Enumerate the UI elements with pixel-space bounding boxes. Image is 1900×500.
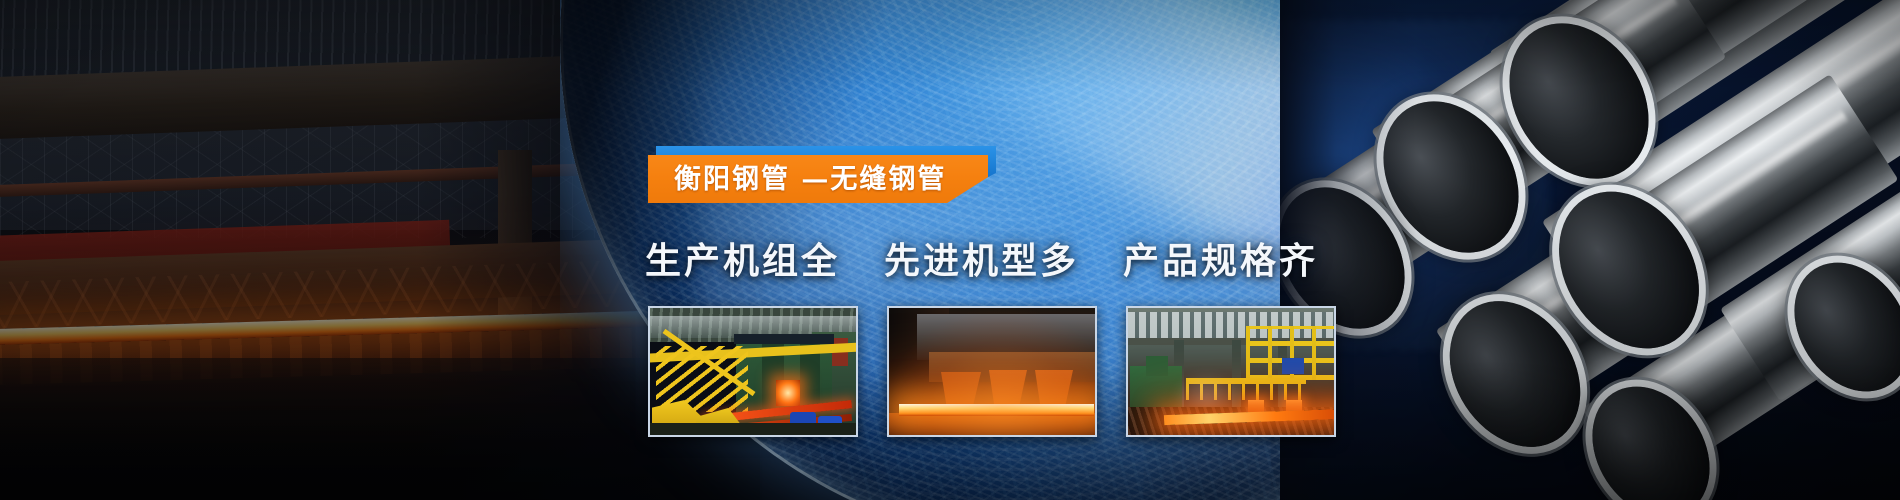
t3-green-machine-top — [1146, 356, 1168, 376]
thumbnail-rolling-mill-line[interactable] — [648, 306, 858, 437]
thumbnail-hot-billet-rolling[interactable] — [887, 306, 1097, 437]
slogan-2: 先进机型多 — [884, 244, 1079, 280]
t1-mill-crosshead — [734, 334, 834, 344]
thumbnail-workshop-hot-strand[interactable] — [1126, 306, 1336, 437]
thumb-3-artwork — [1128, 308, 1334, 435]
t1-hot-billet — [776, 380, 800, 406]
thumb-1-artwork — [650, 308, 856, 435]
brand-badge-text: 衡阳钢管 —无缝钢管 — [648, 166, 946, 193]
hero-banner: 衡阳钢管 —无缝钢管 生产机组全 先进机型多 产品规格齐 — [0, 0, 1900, 500]
t2-heat-haze — [889, 308, 1095, 435]
t1-floor — [650, 423, 856, 435]
headline-slogans: 生产机组全 先进机型多 产品规格齐 — [645, 244, 1318, 280]
t3-blue-unit — [1282, 358, 1304, 374]
brand-badge-orange: 衡阳钢管 —无缝钢管 — [648, 155, 988, 203]
slogan-1: 生产机组全 — [645, 244, 840, 280]
slogan-3: 产品规格齐 — [1123, 244, 1318, 280]
thumb-2-artwork — [889, 308, 1095, 435]
banner-content: 衡阳钢管 —无缝钢管 生产机组全 先进机型多 产品规格齐 — [0, 0, 1900, 500]
brand-badge: 衡阳钢管 —无缝钢管 — [648, 146, 1000, 204]
thumbnail-strip — [648, 306, 1336, 437]
